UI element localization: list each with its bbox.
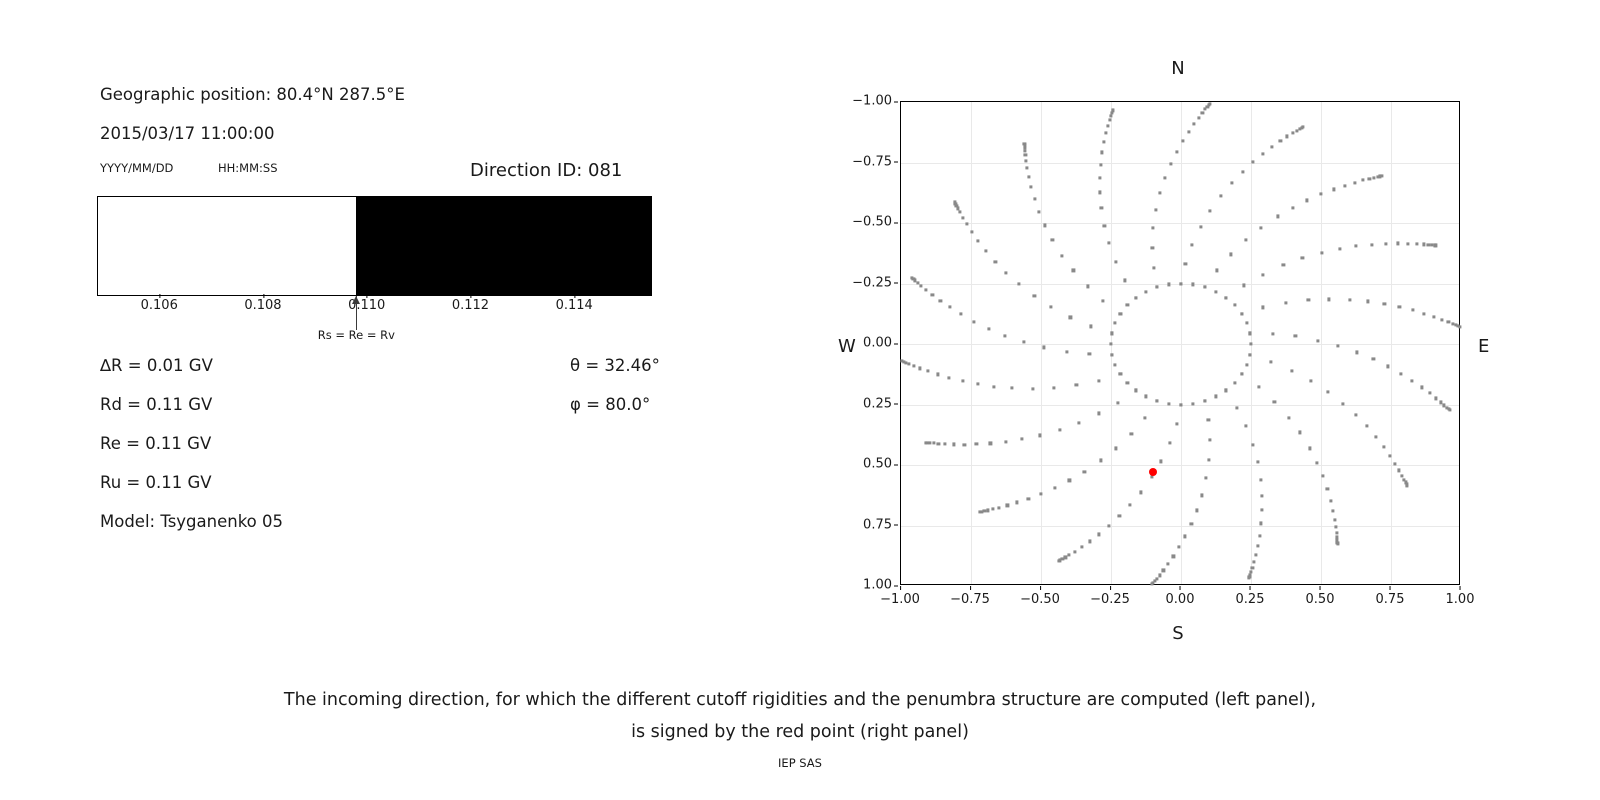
scatter-dot <box>1338 247 1341 250</box>
scatter-dot <box>1163 176 1166 179</box>
scatter-dot <box>1178 546 1181 549</box>
scatter-dot <box>1214 395 1217 398</box>
scatter-dot <box>1097 412 1100 415</box>
scatter-dot <box>1321 251 1324 254</box>
scatter-dot <box>1108 119 1111 122</box>
scatter-dot <box>1065 350 1068 353</box>
scatter-dot <box>1241 170 1244 173</box>
scatter-dot <box>1276 215 1279 218</box>
scatter-dot <box>952 443 955 446</box>
scatter-dot <box>924 441 927 444</box>
scatter-dot <box>1207 459 1210 462</box>
scatter-dot <box>1043 224 1046 227</box>
scatter-dot <box>1383 302 1386 305</box>
scatter-dot <box>1224 389 1227 392</box>
scatter-dot <box>1290 369 1293 372</box>
scatter-dot <box>1099 459 1102 462</box>
gridline-horizontal-2 <box>901 465 1459 466</box>
scatter-dot <box>1101 151 1104 154</box>
scatter-dot <box>1208 102 1211 105</box>
penumbra-tick-3: 0.112 <box>452 298 489 313</box>
scatter-dot <box>1321 475 1324 478</box>
x-tick-2: −0.50 <box>1020 592 1060 607</box>
scatter-dot <box>1038 210 1041 213</box>
scatter-dot <box>1251 566 1254 569</box>
scatter-dot <box>1422 243 1425 246</box>
scatter-dot <box>977 239 980 242</box>
scatter-dot <box>1200 494 1203 497</box>
scatter-dot <box>963 443 966 446</box>
scatter-dot <box>1097 379 1100 382</box>
scatter-dot <box>1152 266 1155 269</box>
scatter-dot <box>1119 312 1122 315</box>
scatter-dot <box>1080 545 1083 548</box>
scatter-dot <box>1005 271 1008 274</box>
scatter-dot <box>1301 257 1304 260</box>
scatter-dot <box>1072 269 1075 272</box>
scatter-dot <box>1026 167 1029 170</box>
scatter-dot <box>1214 290 1217 293</box>
scatter-dot <box>1388 454 1391 457</box>
x-tick-mark <box>970 586 971 590</box>
compass-label-north: N <box>1171 58 1184 79</box>
gridline-vertical-2 <box>1041 102 1042 584</box>
y-tick-8: −1.00 <box>852 94 892 109</box>
scatter-dot <box>1155 286 1158 289</box>
scatter-dot <box>1411 379 1414 382</box>
scatter-dot <box>1031 387 1034 390</box>
x-tick-6: 0.50 <box>1306 592 1335 607</box>
scatter-dot <box>1458 325 1461 328</box>
scatter-dot <box>1260 522 1263 525</box>
scatter-dot <box>1152 226 1155 229</box>
compass-label-south: S <box>1172 623 1183 644</box>
scatter-dot <box>1107 524 1110 527</box>
x-axis-ticks: −1.00−0.75−0.50−0.250.000.250.500.751.00 <box>900 592 1460 614</box>
compass-label-west: W <box>838 336 856 357</box>
gridline-horizontal-1 <box>901 526 1459 527</box>
x-tick-mark <box>1180 586 1181 590</box>
y-tick-4: 0.00 <box>863 336 892 351</box>
scatter-dot <box>926 370 929 373</box>
scatter-dot <box>1423 312 1426 315</box>
scatter-dot <box>1089 325 1092 328</box>
scatter-dot <box>1110 332 1113 335</box>
scatter-dot <box>1154 209 1157 212</box>
scatter-dot <box>1203 399 1206 402</box>
scatter-dot <box>1184 535 1187 538</box>
scatter-dot <box>1235 406 1238 409</box>
compass-label-east: E <box>1478 336 1489 357</box>
scatter-dot <box>1024 159 1027 162</box>
scatter-dot <box>1386 365 1389 368</box>
x-tick-7: 0.75 <box>1376 592 1405 607</box>
scatter-dot <box>1126 381 1129 384</box>
scatter-dot <box>1262 152 1265 155</box>
scatter-dot <box>1244 238 1247 241</box>
scatter-dot <box>1259 478 1262 481</box>
scatter-dot <box>1124 279 1127 282</box>
scatter-dot <box>931 293 934 296</box>
scatter-dot <box>1398 305 1401 308</box>
scatter-dot <box>1240 312 1243 315</box>
scatter-dot <box>1068 553 1071 556</box>
scatter-dot <box>1256 461 1259 464</box>
scatter-dot <box>1366 300 1369 303</box>
parameter-re: Re = 0.11 GV <box>100 434 211 453</box>
parameter-rd: Rd = 0.11 GV <box>100 395 212 414</box>
penumbra-axis: 0.1060.1080.1100.1120.114 <box>97 298 652 320</box>
scatter-dot <box>1215 269 1218 272</box>
selected-direction-marker[interactable] <box>1149 468 1157 476</box>
scatter-dot <box>1329 499 1332 502</box>
scatter-dot <box>1257 386 1260 389</box>
scatter-dot <box>1179 282 1182 285</box>
scatter-dot <box>1151 246 1154 249</box>
scatter-dot <box>924 288 927 291</box>
scatter-dot <box>970 231 973 234</box>
scatter-dot <box>1254 553 1257 556</box>
scatter-dot <box>1270 360 1273 363</box>
scatter-dot <box>1332 509 1335 512</box>
date-format-hint: YYYY/MM/DD <box>100 161 173 175</box>
scatter-dot <box>1372 358 1375 361</box>
y-tick-mark <box>894 101 898 102</box>
scatter-dot <box>1190 522 1193 525</box>
scatter-dot <box>1308 447 1311 450</box>
scatter-dot <box>1097 533 1100 536</box>
scatter-dot <box>1119 373 1122 376</box>
scatter-dot <box>1181 139 1184 142</box>
scatter-dot <box>1326 487 1329 490</box>
scatter-dot <box>1441 318 1444 321</box>
scatter-dot <box>1247 577 1250 580</box>
scatter-dot <box>1069 316 1072 319</box>
scatter-dot <box>1134 296 1137 299</box>
x-tick-0: −1.00 <box>880 592 920 607</box>
scatter-dot <box>1023 142 1026 145</box>
scatter-dot <box>1144 416 1147 419</box>
x-tick-5: 0.25 <box>1236 592 1265 607</box>
penumbra-tick-mark <box>263 294 264 298</box>
y-tick-0: 1.00 <box>863 578 892 593</box>
scatter-dot <box>1298 431 1301 434</box>
scatter-dot <box>1260 226 1263 229</box>
time-format-hint: HH:MM:SS <box>218 161 278 175</box>
scatter-dot <box>1158 574 1161 577</box>
gridline-horizontal-7 <box>901 163 1459 164</box>
scatter-dot <box>975 443 978 446</box>
scatter-dot <box>1053 486 1056 489</box>
scatter-dot <box>1333 518 1336 521</box>
scatter-dot <box>1088 352 1091 355</box>
scatter-dot <box>1233 381 1236 384</box>
scatter-dot <box>1192 122 1195 125</box>
scatter-dot <box>1286 135 1289 138</box>
scatter-dot <box>1420 386 1423 389</box>
scatter-dot <box>1394 462 1397 465</box>
parameter-phi: φ = 80.0° <box>570 395 650 414</box>
scatter-dot <box>1040 492 1043 495</box>
y-tick-mark <box>894 222 898 223</box>
scatter-dot <box>1317 339 1320 342</box>
scatter-dot <box>1099 163 1102 166</box>
scatter-dot <box>1336 344 1339 347</box>
scatter-dot <box>1374 435 1377 438</box>
x-tick-3: −0.25 <box>1090 592 1130 607</box>
scatter-dot <box>1144 395 1147 398</box>
scatter-dot <box>994 260 997 263</box>
gridline-vertical-4 <box>1181 102 1182 584</box>
scatter-dot <box>911 276 914 279</box>
x-tick-4: 0.00 <box>1166 592 1195 607</box>
scatter-dot <box>1098 176 1101 179</box>
scatter-dot <box>1111 108 1114 111</box>
scatter-dot <box>1144 290 1147 293</box>
penumbra-structure-bar <box>97 196 652 296</box>
penumbra-tick-mark <box>470 294 471 298</box>
scatter-dot <box>1433 315 1436 318</box>
scatter-dot <box>1114 363 1117 366</box>
scatter-dot <box>1400 474 1403 477</box>
scatter-dot <box>1192 283 1195 286</box>
scatter-dot <box>1342 402 1345 405</box>
scatter-dot <box>1284 301 1287 304</box>
scatter-dot <box>1315 461 1318 464</box>
scatter-dot <box>1229 253 1232 256</box>
scatter-dot <box>1224 296 1227 299</box>
scatter-dot <box>1088 540 1091 543</box>
scatter-dot <box>1167 402 1170 405</box>
x-tick-mark <box>1390 586 1391 590</box>
penumbra-forbidden-region <box>356 197 651 295</box>
scatter-dot <box>1287 416 1290 419</box>
scatter-dot <box>1030 186 1033 189</box>
scatter-dot <box>1327 298 1330 301</box>
x-tick-mark <box>1110 586 1111 590</box>
scatter-dot <box>908 363 911 366</box>
scatter-dot <box>1086 285 1089 288</box>
scatter-dot <box>1160 460 1163 463</box>
scatter-dot <box>1027 175 1030 178</box>
scatter-dot <box>1406 484 1409 487</box>
scatter-dot <box>1244 424 1247 427</box>
scatter-dot <box>1355 245 1358 248</box>
scatter-dot <box>1102 299 1105 302</box>
scatter-dot <box>1197 116 1200 119</box>
y-tick-5: −0.25 <box>852 275 892 290</box>
scatter-dot <box>1428 392 1431 395</box>
scatter-dot <box>1305 199 1308 202</box>
scatter-dot <box>901 360 904 363</box>
scatter-dot <box>1126 304 1129 307</box>
y-tick-mark <box>894 464 898 465</box>
scatter-canvas <box>901 102 1459 584</box>
scatter-dot <box>1021 438 1024 441</box>
y-tick-mark <box>894 162 898 163</box>
scatter-dot <box>1448 409 1451 412</box>
scatter-dot <box>1114 447 1117 450</box>
scatter-dot <box>1169 162 1172 165</box>
scatter-dot <box>1004 440 1007 443</box>
scatter-dot <box>1291 206 1294 209</box>
geographic-position: Geographic position: 80.4°N 287.5°E <box>100 85 405 104</box>
scatter-dot <box>1167 283 1170 286</box>
scatter-dot <box>1245 363 1248 366</box>
scatter-dot <box>991 508 994 511</box>
gridline-horizontal-4 <box>901 344 1459 345</box>
scatter-dot <box>1077 421 1080 424</box>
scatter-dot <box>1192 402 1195 405</box>
scatter-dot <box>1110 353 1113 356</box>
direction-id-label: Direction ID: 081 <box>470 160 622 181</box>
x-tick-mark <box>900 586 901 590</box>
scatter-dot <box>1384 242 1387 245</box>
scatter-dot <box>932 442 935 445</box>
scatter-dot <box>937 442 940 445</box>
scatter-dot <box>1073 550 1076 553</box>
scatter-dot <box>1407 242 1410 245</box>
scatter-dot <box>1279 139 1282 142</box>
scatter-dot <box>1307 299 1310 302</box>
scatter-dot <box>976 382 979 385</box>
scatter-dot <box>1109 115 1112 118</box>
scatter-dot <box>936 373 939 376</box>
scatter-dot <box>1058 428 1061 431</box>
scatter-dot <box>1230 181 1233 184</box>
scatter-dot <box>1175 422 1178 425</box>
scatter-dot <box>1134 389 1137 392</box>
scatter-dot <box>1203 286 1206 289</box>
scatter-dot <box>993 385 996 388</box>
scatter-dot <box>1114 322 1117 325</box>
scatter-dot <box>961 216 964 219</box>
scatter-dot <box>965 223 968 226</box>
scatter-dot <box>920 284 923 287</box>
scatter-dot <box>1334 526 1337 529</box>
scatter-dot <box>947 376 950 379</box>
scatter-dot <box>961 379 964 382</box>
y-tick-mark <box>894 525 898 526</box>
scatter-dot <box>972 320 975 323</box>
scatter-dot <box>1249 342 1252 345</box>
scatter-dot <box>1099 191 1102 194</box>
scatter-dot <box>1302 125 1305 128</box>
scatter-dot <box>1179 403 1182 406</box>
scatter-dot <box>1252 560 1255 563</box>
penumbra-tick-0: 0.106 <box>141 298 178 313</box>
scatter-dot <box>989 442 992 445</box>
scatter-dot <box>1187 130 1190 133</box>
y-tick-2: 0.50 <box>863 457 892 472</box>
x-tick-mark <box>1320 586 1321 590</box>
scatter-dot <box>1184 263 1187 266</box>
scatter-dot <box>1201 111 1204 114</box>
scatter-dot <box>1130 432 1133 435</box>
scatter-dot <box>1251 443 1254 446</box>
scatter-dot <box>1003 334 1006 337</box>
scatter-dot <box>1361 179 1364 182</box>
scatter-dot <box>1106 124 1109 127</box>
scatter-dot <box>1061 254 1064 257</box>
scatter-dot <box>1114 261 1117 264</box>
scatter-dot <box>1075 383 1078 386</box>
scatter-dot <box>1017 282 1020 285</box>
x-tick-1: −0.75 <box>950 592 990 607</box>
scatter-dot <box>1271 145 1274 148</box>
parameter-delta-r: ∆R = 0.01 GV <box>100 356 213 375</box>
scatter-dot <box>1023 149 1026 152</box>
figure-caption: The incoming direction, for which the di… <box>0 684 1600 748</box>
scatter-dot <box>1207 419 1210 422</box>
scatter-dot <box>1291 131 1294 134</box>
scatter-dot <box>1248 353 1251 356</box>
scatter-dot <box>1027 497 1030 500</box>
scatter-dot <box>1033 294 1036 297</box>
scatter-dot <box>1103 224 1106 227</box>
scatter-dot <box>1209 209 1212 212</box>
y-tick-3: 0.25 <box>863 396 892 411</box>
penumbra-tick-mark <box>367 294 368 298</box>
scatter-dot <box>1260 494 1263 497</box>
scatter-dot <box>959 313 962 316</box>
scatter-dot <box>1365 425 1368 428</box>
scatter-dot <box>1310 380 1313 383</box>
scatter-dot <box>1051 238 1054 241</box>
scatter-dot <box>1158 191 1161 194</box>
scatter-dot <box>1162 569 1165 572</box>
scatter-dot <box>1370 243 1373 246</box>
scatter-dot <box>1103 141 1106 144</box>
scatter-dot <box>1016 501 1019 504</box>
scatter-dot <box>1006 504 1009 507</box>
x-tick-mark <box>1250 586 1251 590</box>
scatter-dot <box>1240 373 1243 376</box>
scatter-dot <box>1195 509 1198 512</box>
scatter-dot <box>1107 241 1110 244</box>
scatter-dot <box>1356 351 1359 354</box>
left-panel: Geographic position: 80.4°N 287.5°E 2015… <box>0 0 760 620</box>
scatter-dot <box>1415 242 1418 245</box>
scatter-dot <box>1245 322 1248 325</box>
scatter-dot <box>912 364 915 367</box>
plot-axes-frame <box>900 101 1460 585</box>
scatter-dot <box>1353 181 1356 184</box>
scatter-dot <box>1368 177 1371 180</box>
scatter-dot <box>1326 390 1329 393</box>
y-tick-mark <box>894 283 898 284</box>
scatter-dot <box>1038 434 1041 437</box>
y-tick-mark <box>894 404 898 405</box>
gridline-vertical-1 <box>971 102 972 584</box>
scatter-dot <box>1155 399 1158 402</box>
scatter-dot <box>1273 400 1276 403</box>
scatter-dot <box>1260 509 1263 512</box>
scatter-dot <box>987 327 990 330</box>
scatter-dot <box>1248 332 1251 335</box>
scatter-dot <box>986 509 989 512</box>
parameter-ru: Ru = 0.11 GV <box>100 473 212 492</box>
scatter-dot <box>1139 491 1142 494</box>
scatter-dot <box>1168 441 1171 444</box>
scatter-dot <box>1083 470 1086 473</box>
scatter-dot <box>1151 583 1154 586</box>
x-tick-mark <box>1460 586 1461 590</box>
scatter-dot <box>1271 332 1274 335</box>
scatter-dot <box>1335 532 1338 535</box>
caption-line-2: is signed by the red point (right panel) <box>0 716 1600 748</box>
scatter-dot <box>1256 544 1259 547</box>
